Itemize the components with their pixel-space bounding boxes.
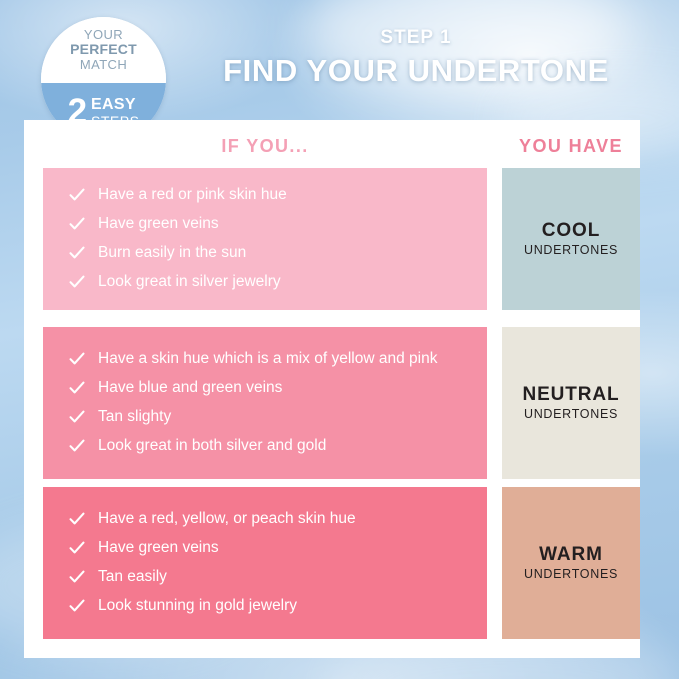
title-block: STEP 1 FIND YOUR UNDERTONE — [185, 28, 647, 88]
undertone-name: COOL — [542, 220, 601, 242]
criteria-text: Have blue and green veins — [98, 378, 282, 399]
check-icon — [69, 216, 85, 232]
check-icon — [69, 187, 85, 203]
badge-word-easy: EASY — [91, 97, 139, 114]
criteria-text: Look great in silver jewelry — [98, 272, 281, 293]
criteria-item: Have blue and green veins — [43, 374, 487, 403]
criteria-list: Have a red, yellow, or peach skin hue Ha… — [43, 487, 487, 639]
criteria-text: Burn easily in the sun — [98, 243, 246, 264]
criteria-text: Have a red, yellow, or peach skin hue — [98, 509, 356, 530]
undertone-infographic: STEP 1 FIND YOUR UNDERTONE YOUR PERFECT … — [0, 0, 679, 679]
undertone-swatch-warm: WARM UNDERTONES — [502, 487, 640, 639]
criteria-item: Look great in silver jewelry — [43, 268, 487, 297]
check-icon — [69, 598, 85, 614]
criteria-text: Look stunning in gold jewelry — [98, 596, 297, 617]
criteria-text: Have a skin hue which is a mix of yellow… — [98, 349, 437, 370]
check-icon — [69, 409, 85, 425]
criteria-item: Tan slighty — [43, 403, 487, 432]
check-icon — [69, 438, 85, 454]
criteria-item: Burn easily in the sun — [43, 239, 487, 268]
check-icon — [69, 540, 85, 556]
result-column-header: YOU HAVE — [502, 136, 640, 157]
check-icon — [69, 569, 85, 585]
criteria-item: Look stunning in gold jewelry — [43, 592, 487, 621]
undertone-sublabel: UNDERTONES — [524, 407, 618, 422]
criteria-item: Have a red, yellow, or peach skin hue — [43, 505, 487, 534]
criteria-item: Look great in both silver and gold — [43, 432, 487, 461]
undertone-sublabel: UNDERTONES — [524, 567, 618, 582]
badge-line-perfect: PERFECT — [70, 42, 137, 58]
badge-top: YOUR PERFECT MATCH — [41, 17, 166, 83]
undertone-swatch-neutral: NEUTRAL UNDERTONES — [502, 327, 640, 479]
check-icon — [69, 351, 85, 367]
criteria-item: Have green veins — [43, 210, 487, 239]
criteria-column-header: IF YOU... — [43, 136, 487, 157]
criteria-list: Have a skin hue which is a mix of yellow… — [43, 327, 487, 479]
undertone-swatch-cool: COOL UNDERTONES — [502, 168, 640, 310]
check-icon — [69, 245, 85, 261]
criteria-item: Have green veins — [43, 534, 487, 563]
criteria-list: Have a red or pink skin hue Have green v… — [43, 168, 487, 310]
badge-line-match: MATCH — [80, 58, 127, 73]
undertone-sublabel: UNDERTONES — [524, 243, 618, 258]
badge-line-your: YOUR — [84, 28, 123, 43]
undertone-name: WARM — [539, 544, 603, 566]
check-icon — [69, 380, 85, 396]
criteria-text: Have green veins — [98, 538, 219, 559]
check-icon — [69, 511, 85, 527]
step-label: STEP 1 — [185, 28, 647, 49]
criteria-text: Tan easily — [98, 567, 167, 588]
check-icon — [69, 274, 85, 290]
undertone-name: NEUTRAL — [522, 384, 619, 406]
criteria-item: Have a red or pink skin hue — [43, 181, 487, 210]
criteria-text: Have a red or pink skin hue — [98, 185, 287, 206]
criteria-item: Tan easily — [43, 563, 487, 592]
criteria-text: Look great in both silver and gold — [98, 436, 326, 457]
criteria-text: Have green veins — [98, 214, 219, 235]
page-title: FIND YOUR UNDERTONE — [185, 54, 647, 88]
criteria-text: Tan slighty — [98, 407, 171, 428]
criteria-item: Have a skin hue which is a mix of yellow… — [43, 345, 487, 374]
